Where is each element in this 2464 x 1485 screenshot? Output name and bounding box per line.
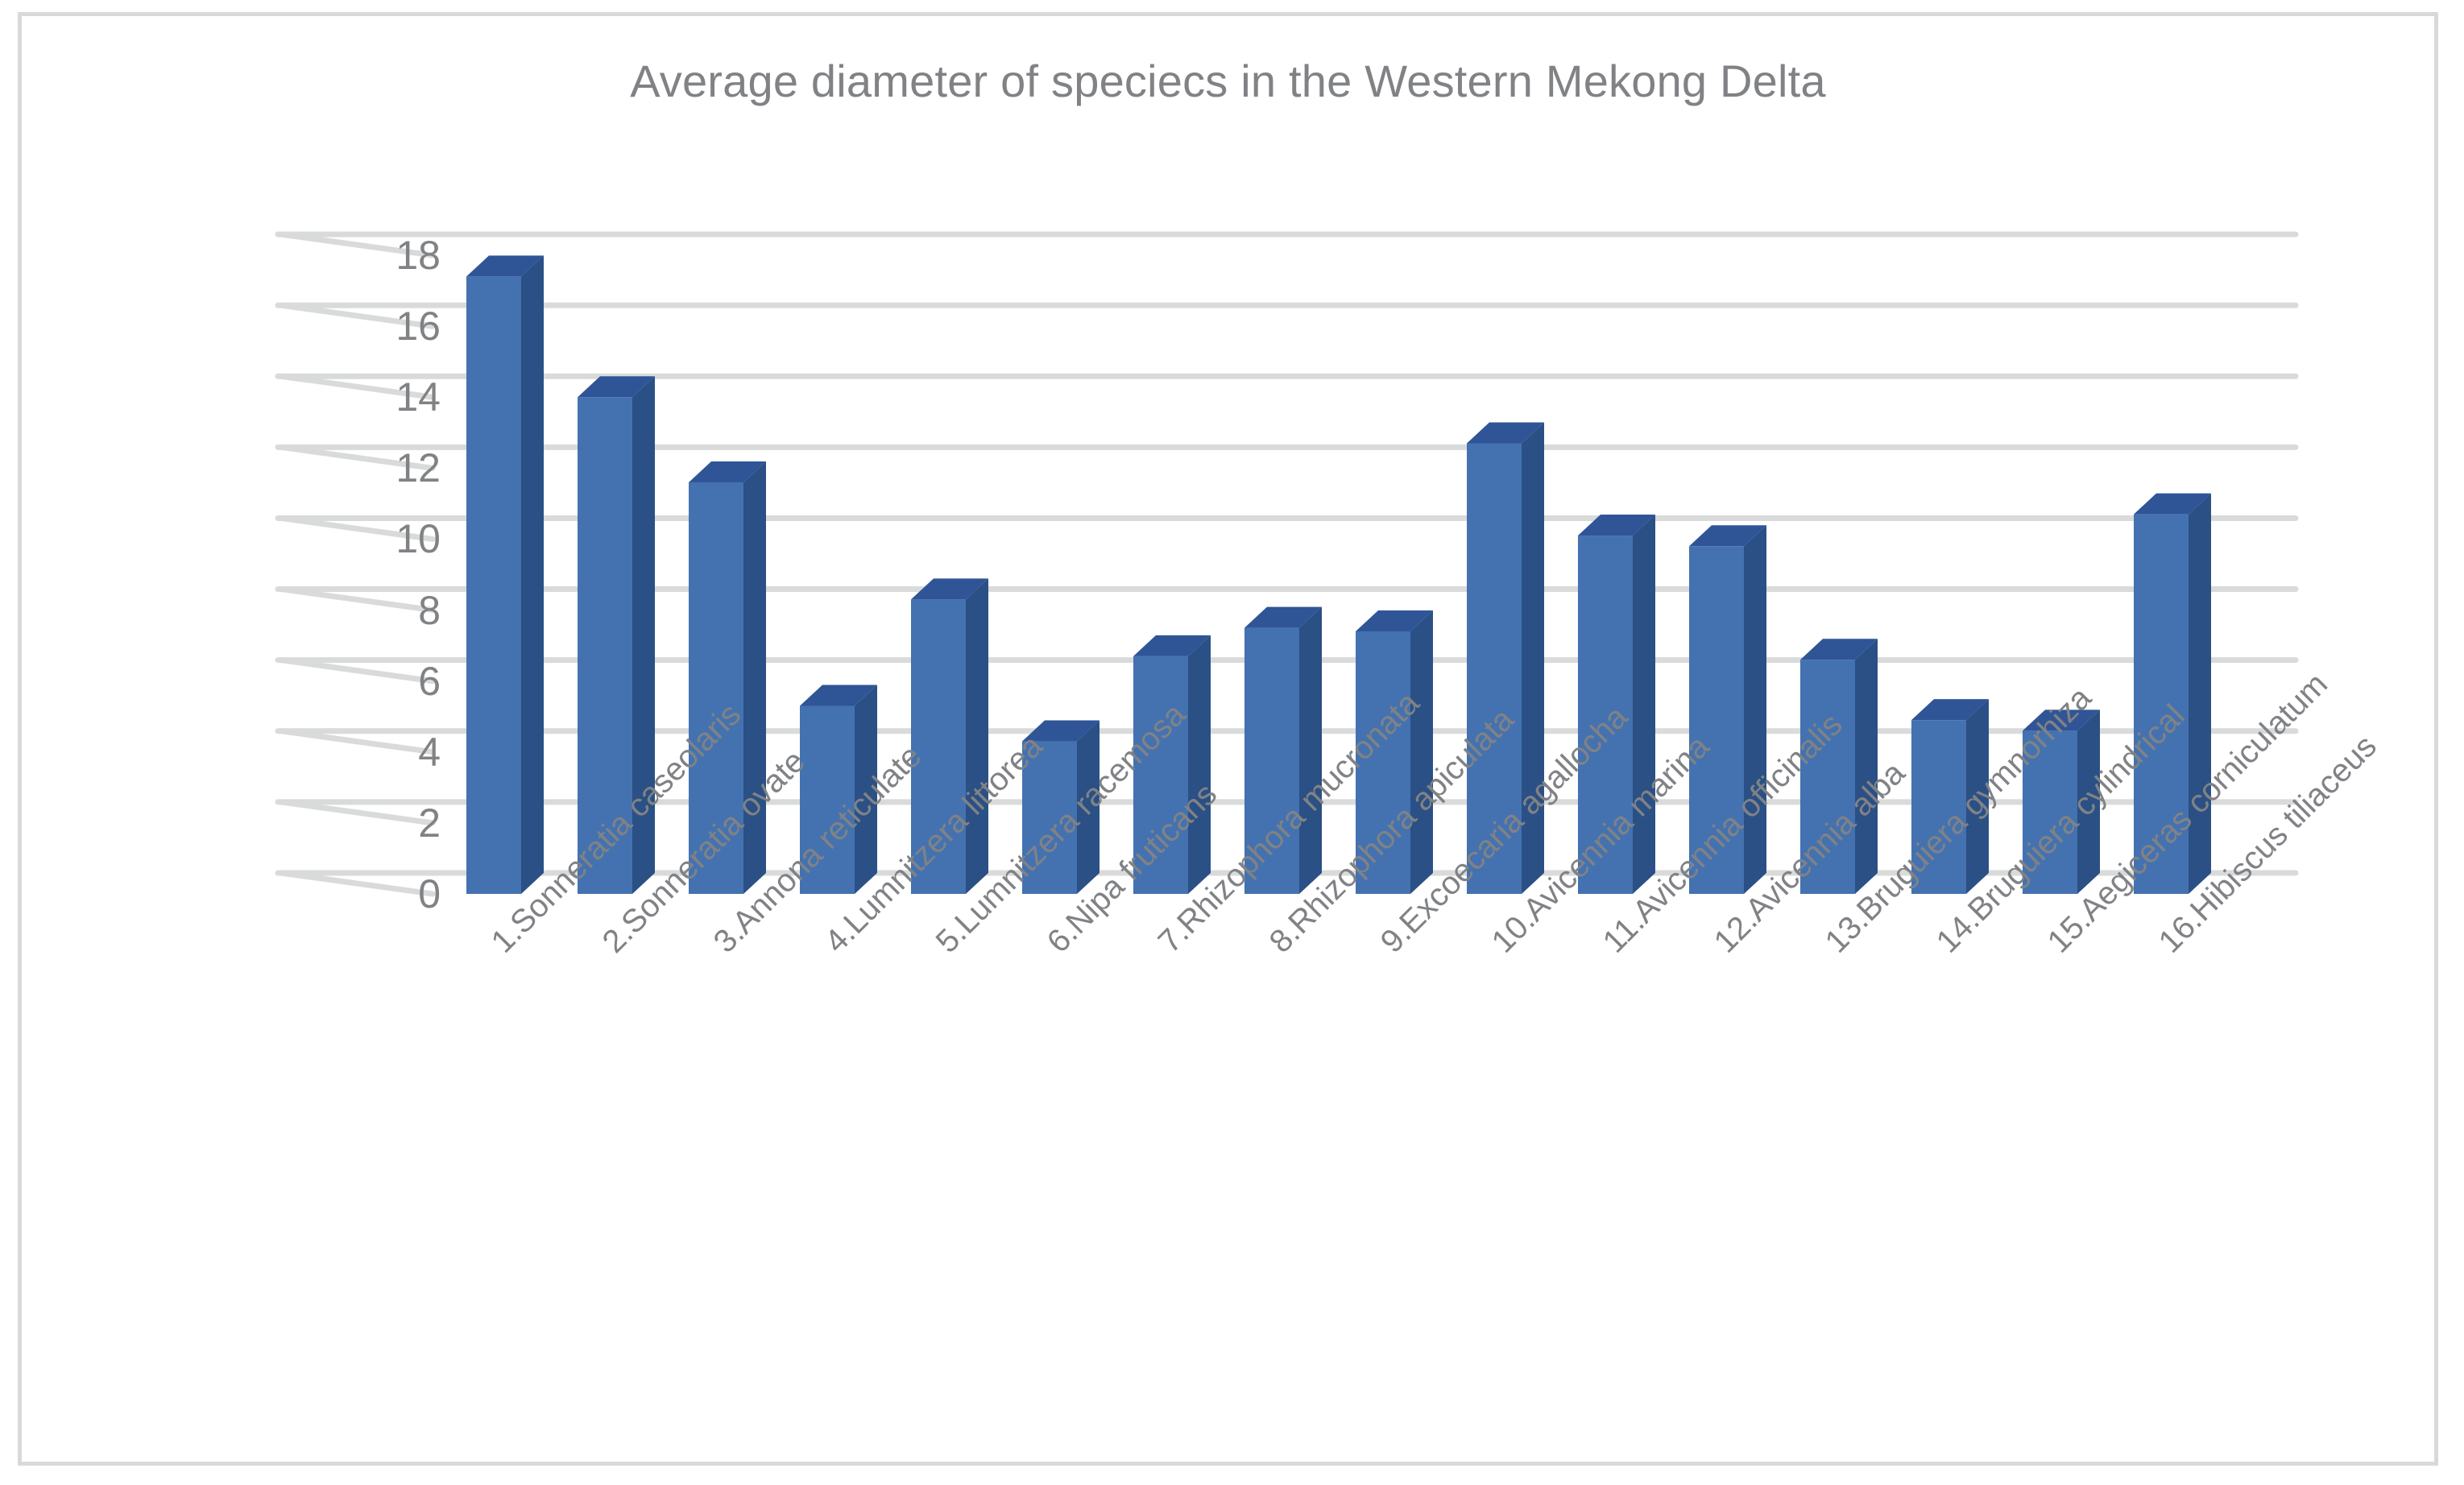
y-axis-tick-label: 14 (344, 377, 441, 417)
y-axis-labels: 181614121086420 (312, 16, 441, 1470)
bar-side-face (1188, 635, 1211, 894)
y-axis-tick-label: 8 (344, 590, 441, 631)
y-axis-tick-label: 12 (344, 448, 441, 488)
bar-side-face (1410, 610, 1433, 894)
bar-side-face (1744, 525, 1766, 894)
y-axis-tick-label: 18 (344, 235, 441, 275)
y-axis-tick-label: 4 (344, 732, 441, 772)
bar-side-face (521, 255, 544, 894)
bar-1[interactable] (466, 255, 544, 894)
y-axis-tick-label: 2 (344, 803, 441, 843)
y-axis-tick-label: 10 (344, 519, 441, 559)
bar-side-face (966, 578, 988, 894)
bar-side-face (2189, 494, 2211, 894)
bar-side-face (1299, 607, 1322, 894)
y-axis-tick-label: 6 (344, 661, 441, 701)
y-axis-tick-label: 16 (344, 306, 441, 346)
chart-frame: Average diameter of speciecs in the West… (18, 12, 2438, 1466)
bars-group (466, 255, 2211, 894)
bar-side-face (1633, 515, 1655, 894)
y-axis-tick-label: 0 (344, 874, 441, 914)
bar-front-face (466, 276, 521, 894)
